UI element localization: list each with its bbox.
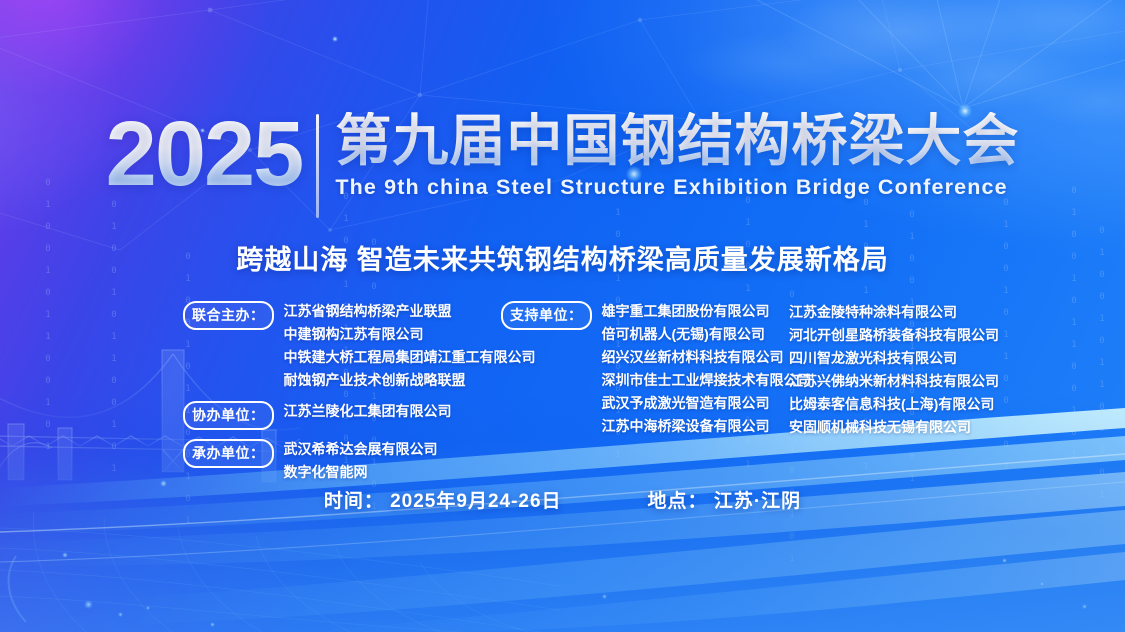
event-location: 地点： 江苏·江阴	[648, 486, 802, 513]
organizers-middle-column: 支持单位： 雄宇重工集团股份有限公司 倍可机器人(无锡)有限公司 绍兴汉丝新材料…	[501, 300, 789, 438]
list-item: 比姆泰客信息科技(上海)有限公司	[789, 393, 1029, 416]
list-item: 安固顺机械科技无锡有限公司	[789, 416, 1029, 439]
list-item: 江苏兰陵化工集团有限公司	[284, 400, 452, 423]
banner-content: 2025 第九届中国钢结构桥梁大会 The 9th china Steel St…	[0, 0, 1125, 632]
co-host-list: 江苏省钢结构桥梁产业联盟 中建钢构江苏有限公司 中铁建大桥工程局集团靖江重工有限…	[274, 300, 536, 392]
list-item: 江苏省钢结构桥梁产业联盟	[284, 300, 536, 323]
list-item: 武汉予成激光智造有限公司	[602, 392, 812, 415]
organizers-left-column: 联合主办： 江苏省钢结构桥梁产业联盟 中建钢构江苏有限公司 中铁建大桥工程局集团…	[183, 300, 501, 484]
undertaker-group: 承办单位： 武汉希希达会展有限公司 数字化智能网	[183, 438, 501, 484]
supporters-label: 支持单位：	[501, 301, 592, 330]
title-block: 第九届中国钢结构桥梁大会 The 9th china Steel Structu…	[319, 112, 1019, 200]
supporters-list-col1: 雄宇重工集团股份有限公司 倍可机器人(无锡)有限公司 绍兴汉丝新材料科技有限公司…	[592, 300, 812, 438]
supporters-list-col2: 江苏金陵特种涂料有限公司 河北开创星路桥装备科技有限公司 四川智龙激光科技有限公…	[789, 301, 1029, 439]
organizers-section: 联合主办： 江苏省钢结构桥梁产业联盟 中建钢构江苏有限公司 中铁建大桥工程局集团…	[183, 300, 1029, 484]
organizers-right-column: 江苏金陵特种涂料有限公司 河北开创星路桥装备科技有限公司 四川智龙激光科技有限公…	[789, 300, 1029, 439]
conference-banner: 0 1 0 0 1 0 1 1 0 0 1 0 1 0 1 0 0 1 0 1 …	[0, 0, 1125, 632]
list-item: 中铁建大桥工程局集团靖江重工有限公司	[284, 346, 536, 369]
supporters-group: 支持单位： 雄宇重工集团股份有限公司 倍可机器人(无锡)有限公司 绍兴汉丝新材料…	[501, 300, 789, 438]
co-host-group: 联合主办： 江苏省钢结构桥梁产业联盟 中建钢构江苏有限公司 中铁建大桥工程局集团…	[183, 300, 501, 392]
conference-tagline: 跨越山海 智造未来共筑钢结构桥梁高质量发展新格局	[0, 238, 1125, 277]
list-item: 雄宇重工集团股份有限公司	[602, 300, 812, 323]
list-item: 数字化智能网	[284, 461, 438, 484]
list-item: 武汉希希达会展有限公司	[284, 438, 438, 461]
list-item: 倍可机器人(无锡)有限公司	[602, 323, 812, 346]
list-item: 江苏兴佛纳米新材料科技有限公司	[789, 370, 1029, 393]
list-item: 四川智龙激光科技有限公司	[789, 347, 1029, 370]
list-item: 河北开创星路桥装备科技有限公司	[789, 324, 1029, 347]
conference-title-english: The 9th china Steel Structure Exhibition…	[335, 175, 1019, 200]
list-item: 绍兴汉丝新材料科技有限公司	[602, 346, 812, 369]
title-row: 2025 第九届中国钢结构桥梁大会 The 9th china Steel St…	[0, 112, 1125, 218]
list-item: 耐蚀钢产业技术创新战略联盟	[284, 369, 536, 392]
event-meta: 时间： 2025年9月24-26日 地点： 江苏·江阴	[0, 486, 1125, 513]
conference-title-chinese: 第九届中国钢结构桥梁大会	[335, 112, 1019, 169]
list-item: 中建钢构江苏有限公司	[284, 323, 536, 346]
undertaker-label: 承办单位：	[183, 439, 274, 468]
co-organizer-list: 江苏兰陵化工集团有限公司	[274, 400, 452, 423]
list-item: 江苏中海桥梁设备有限公司	[602, 415, 812, 438]
list-item: 江苏金陵特种涂料有限公司	[789, 301, 1029, 324]
list-item: 深圳市佳士工业焊接技术有限公司	[602, 369, 812, 392]
co-organizer-label: 协办单位：	[183, 401, 274, 430]
co-organizer-group: 协办单位： 江苏兰陵化工集团有限公司	[183, 400, 501, 430]
event-date: 时间： 2025年9月24-26日	[324, 486, 562, 513]
co-host-label: 联合主办：	[183, 301, 274, 330]
undertaker-list: 武汉希希达会展有限公司 数字化智能网	[274, 438, 438, 484]
year-2025: 2025	[106, 112, 317, 197]
